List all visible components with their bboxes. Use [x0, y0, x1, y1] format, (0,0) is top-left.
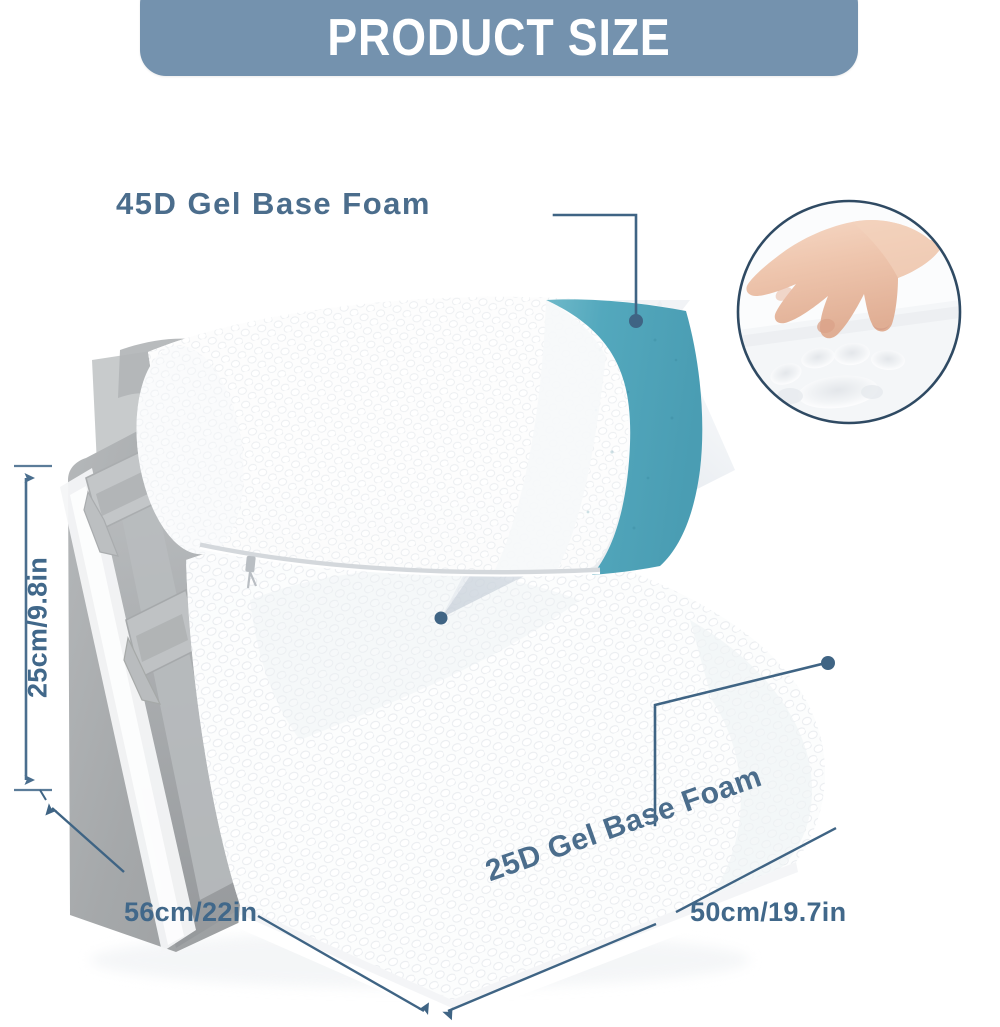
header-layer: PRODUCT SIZE: [0, 0, 1000, 1027]
header-banner: PRODUCT SIZE: [140, 0, 858, 76]
page-title: PRODUCT SIZE: [190, 0, 807, 76]
product-size-infographic: 45D Gel Base Foam 25D Gel Base Foam 56cm…: [0, 0, 1000, 1027]
